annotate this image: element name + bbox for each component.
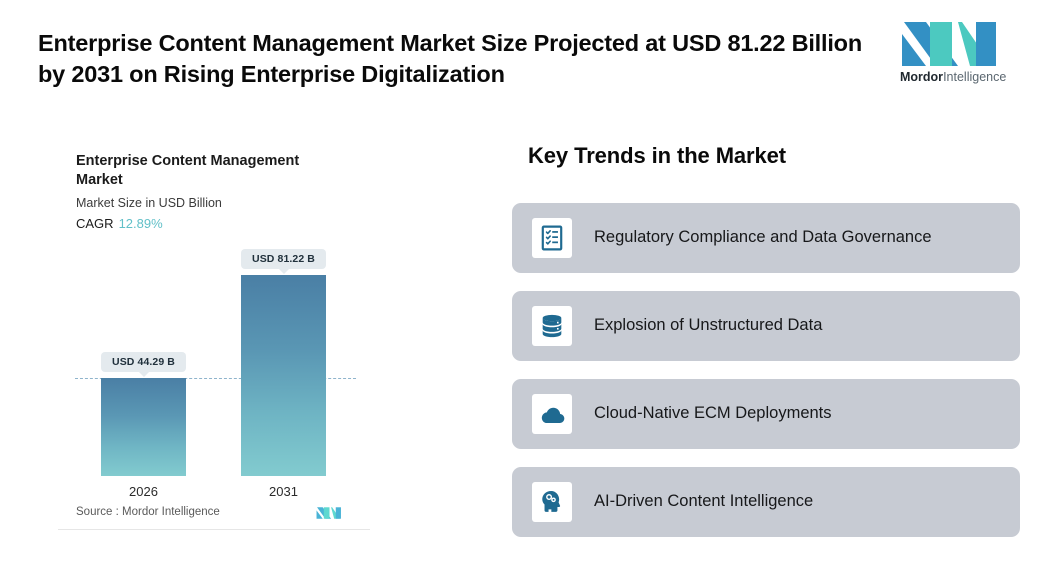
trend-card-label: Regulatory Compliance and Data Governanc…: [594, 227, 932, 248]
market-size-chart-card: Enterprise Content Management Market Mar…: [58, 128, 370, 530]
trend-card-label: Cloud-Native ECM Deployments: [594, 403, 832, 424]
trend-card-label: Explosion of Unstructured Data: [594, 315, 822, 336]
chart-subtitle: Market Size in USD Billion: [76, 196, 222, 210]
chart-source-row: Source : Mordor Intelligence: [76, 506, 352, 526]
mordor-logo-mark: [900, 20, 1000, 68]
brain-gears-icon: [532, 482, 572, 522]
cagr-value: 12.89%: [119, 216, 163, 231]
mordor-intelligence-mark: [316, 505, 342, 521]
key-trends-heading: Key Trends in the Market: [528, 143, 786, 169]
trend-card-unstructured-data[interactable]: Explosion of Unstructured Data: [512, 291, 1020, 361]
mordor-logo-text: MordorIntelligence: [900, 70, 1000, 84]
trend-card-regulatory-compliance[interactable]: Regulatory Compliance and Data Governanc…: [512, 203, 1020, 273]
chart-title: Enterprise Content Management Market: [76, 152, 338, 191]
bar-chart-plot-area: USD 44.29 B USD 81.22 B: [58, 246, 370, 476]
mordor-intelligence-logo: MordorIntelligence: [900, 20, 1000, 92]
bar-2031: [241, 275, 326, 476]
page-header: Enterprise Content Management Market Siz…: [0, 0, 1054, 112]
database-icon: [532, 306, 572, 346]
x-axis-tick-2026: 2026: [101, 484, 186, 499]
cloud-icon: [532, 394, 572, 434]
cagr-row: CAGR12.89%: [76, 216, 163, 231]
trend-card-label: AI-Driven Content Intelligence: [594, 491, 813, 512]
bar-value-label-2031: USD 81.22 B: [241, 249, 326, 269]
page-title: Enterprise Content Management Market Siz…: [38, 28, 868, 91]
checklist-clipboard-icon: [532, 218, 572, 258]
bar-value-label-2026: USD 44.29 B: [101, 352, 186, 372]
trend-card-cloud-native[interactable]: Cloud-Native ECM Deployments: [512, 379, 1020, 449]
bar-2026: [101, 378, 186, 476]
trend-card-ai-driven-content[interactable]: AI-Driven Content Intelligence: [512, 467, 1020, 537]
logo-brand-bold: Mordor: [900, 70, 943, 84]
logo-brand-light: Intelligence: [943, 70, 1006, 84]
x-axis-tick-2031: 2031: [241, 484, 326, 499]
cagr-label: CAGR: [76, 216, 114, 231]
chart-source-label: Source : Mordor Intelligence: [76, 506, 220, 518]
